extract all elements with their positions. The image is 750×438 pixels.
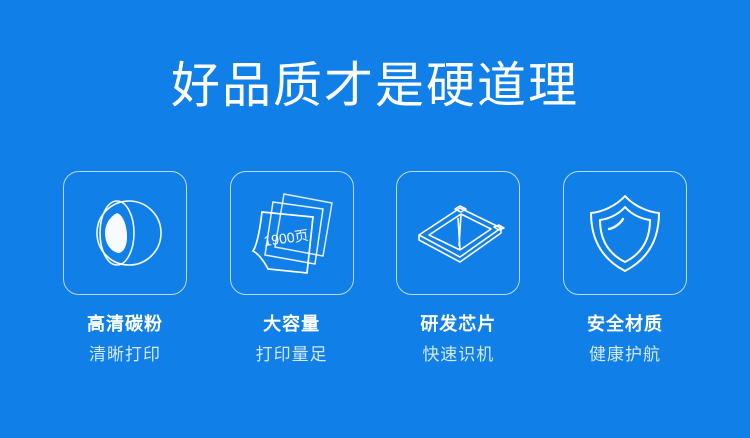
feature-item-safety: 安全材质 健康护航 — [563, 171, 687, 365]
feature-subtitle: 清晰打印 — [89, 344, 161, 365]
feature-item-chip: 研发芯片 快速识机 — [396, 171, 520, 365]
icon-card-safety — [563, 171, 687, 295]
shield-icon — [582, 190, 668, 276]
feature-title: 高清碳粉 — [87, 313, 163, 335]
icon-card-toner — [63, 171, 187, 295]
paper-stack-icon: 1900页 — [244, 185, 340, 281]
feature-title: 安全材质 — [587, 313, 663, 335]
feature-item-toner: 高清碳粉 清晰打印 — [63, 171, 187, 365]
toner-sphere-icon — [79, 187, 171, 279]
feature-title: 大容量 — [263, 313, 320, 335]
feature-subtitle: 打印量足 — [256, 344, 328, 365]
page-title: 好品质才是硬道理 — [0, 57, 750, 115]
promo-banner: 好品质才是硬道理 高清碳粉 清晰打印 — [0, 0, 750, 438]
feature-title: 研发芯片 — [420, 313, 496, 335]
icon-card-capacity: 1900页 — [230, 171, 354, 295]
icon-card-chip — [396, 171, 520, 295]
feature-subtitle: 快速识机 — [422, 344, 494, 365]
feature-subtitle: 健康护航 — [589, 344, 661, 365]
feature-item-capacity: 1900页 大容量 打印量足 — [230, 171, 354, 365]
feature-list: 高清碳粉 清晰打印 1900页 大容量 打印量足 — [63, 171, 687, 365]
chip-icon — [408, 183, 508, 283]
